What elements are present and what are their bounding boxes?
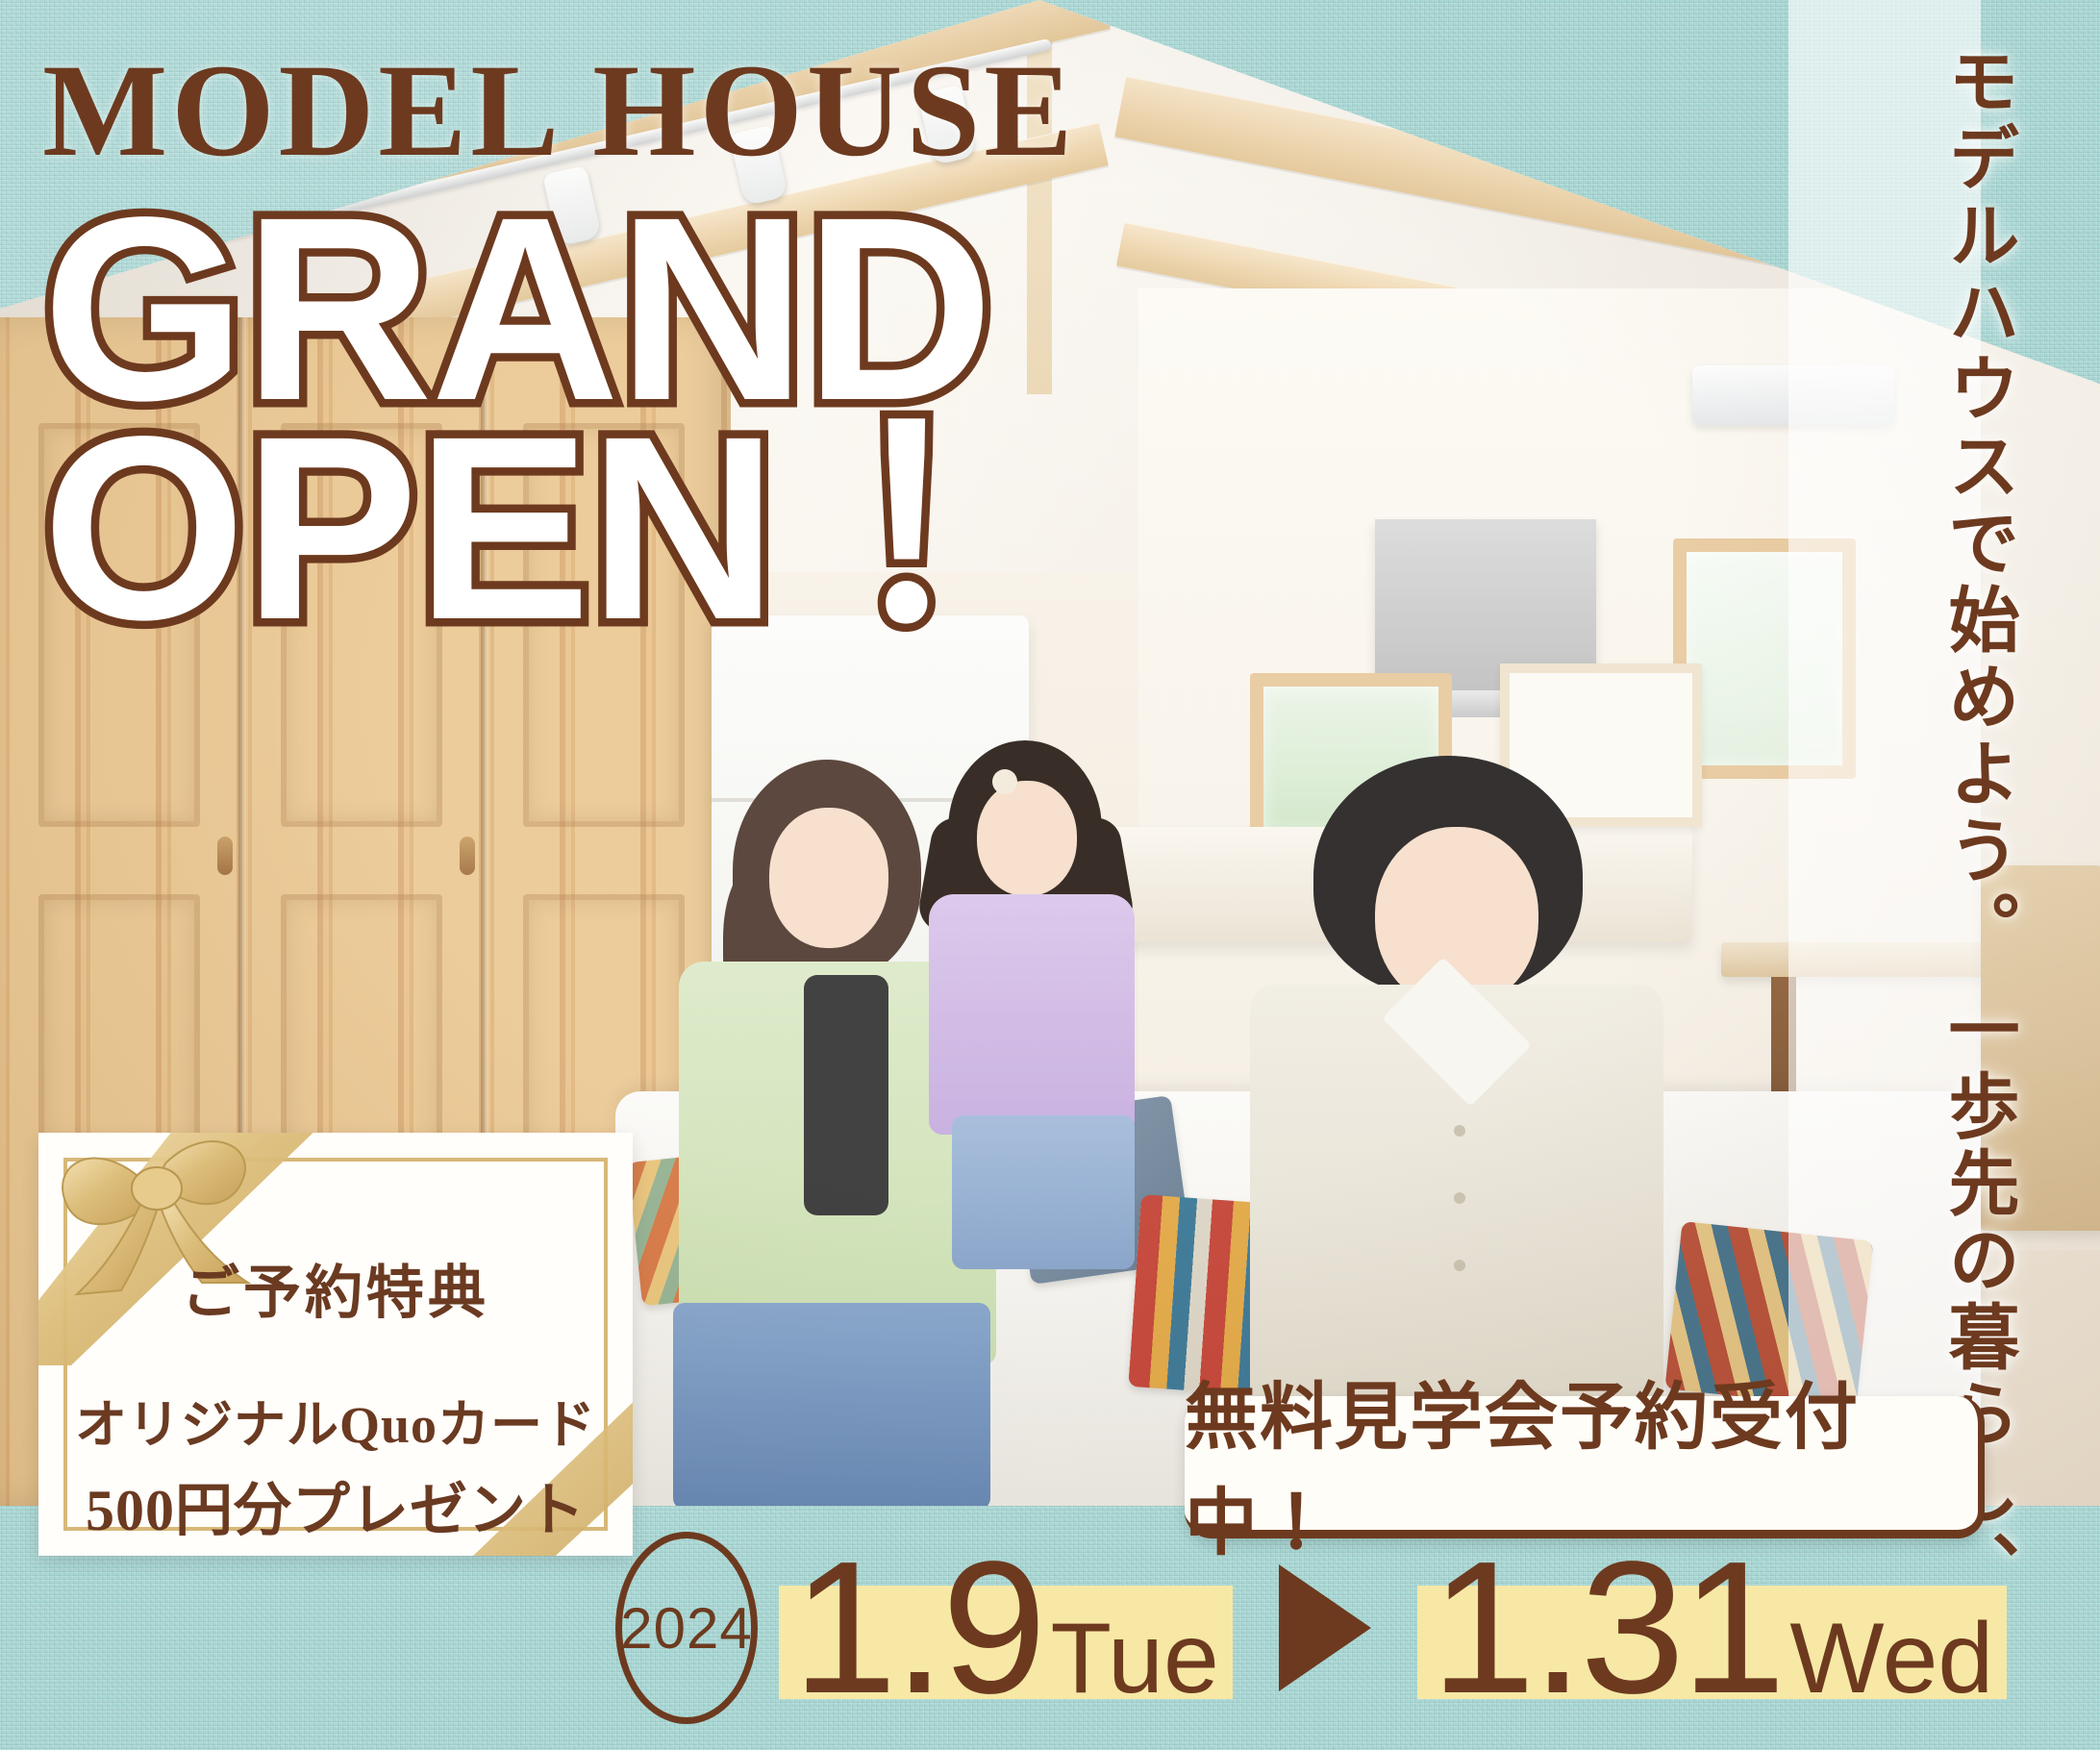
headline-eyebrow: MODEL HOUSE [42,44,1076,177]
gift-card-line-1: オリジナルQuoカード [38,1382,633,1458]
reservation-gift-card: ご予約特典 オリジナルQuoカード 500円分プレゼント [38,1133,633,1556]
year-label: 2024 [620,1595,752,1662]
end-date-dow: Wed [1789,1602,1993,1716]
catchcopy-column-2: モデルハウスで始めよう。 [1935,44,2017,967]
start-date: 1.9 Tue [779,1534,1233,1722]
headline-group: MODEL HOUSE GRAND OPEN！ [42,44,1076,648]
model-house-grand-open-banner: 一歩先の暮らし、 モデルハウスで始めよう。 MODEL HOUSE GRAND … [0,0,2100,1750]
right-triangle-arrow-icon [1279,1564,1371,1691]
start-date-dow: Tue [1050,1602,1218,1716]
gift-card-text: ご予約特典 オリジナルQuoカード 500円分プレゼント [38,1246,633,1547]
year-badge: 2024 [615,1532,758,1724]
headline-open: OPEN！ [42,408,1076,648]
gift-card-title: ご予約特典 [38,1246,633,1330]
event-date-band: 2024 1.9 Tue 1.31 Wed [0,1506,2100,1750]
end-date: 1.31 Wed [1417,1534,2007,1722]
end-date-number: 1.31 [1431,1534,1782,1722]
start-date-number: 1.9 [792,1534,1042,1722]
